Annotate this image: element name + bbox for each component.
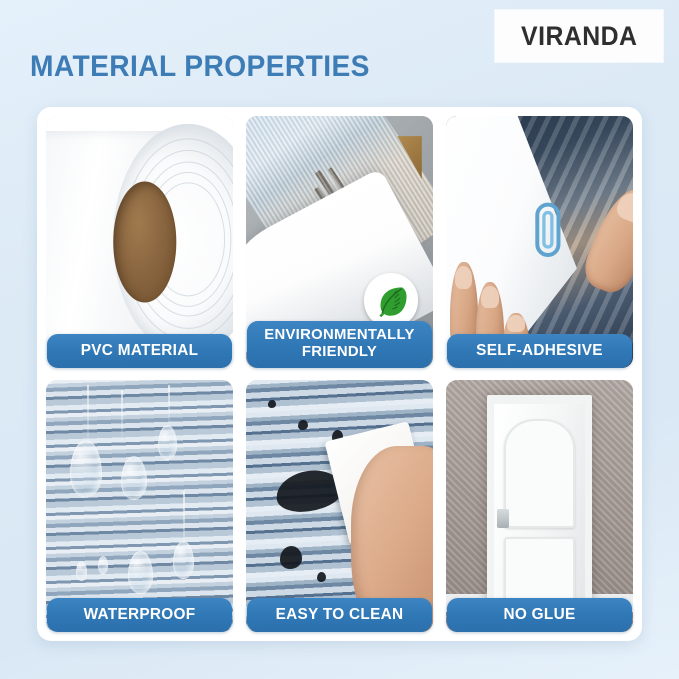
brand-logo-text: VIRANDA: [521, 21, 637, 52]
stain-medium: [280, 546, 302, 569]
pvc-material-label: PVC MATERIAL: [47, 334, 232, 368]
feature-card-waterproof: WATERPROOF: [46, 380, 233, 632]
water-drop: [158, 425, 177, 460]
door: [494, 404, 584, 615]
water-drop: [76, 561, 87, 581]
easy-to-clean-image: [246, 380, 433, 632]
environmentally-friendly-label: ENVIRONMENTALLY FRIENDLY: [247, 321, 432, 368]
stain-small: [268, 400, 275, 408]
water-drop: [98, 556, 107, 573]
waterproof-label: WATERPROOF: [47, 598, 232, 632]
eco-label-line-2: FRIENDLY: [302, 343, 377, 360]
brand-logo: VIRANDA: [495, 10, 663, 62]
feature-card-easy-to-clean: EASY TO CLEAN: [246, 380, 433, 632]
door-panel-bottom: [504, 537, 574, 604]
feature-card-pvc-material: PVC MATERIAL: [46, 116, 233, 368]
feature-card-self-adhesive: SELF-ADHESIVE: [446, 116, 633, 368]
door-panel-top: [504, 419, 574, 529]
door-frame: [487, 395, 592, 617]
self-adhesive-label: SELF-ADHESIVE: [447, 334, 632, 368]
door-handle: [497, 509, 509, 528]
paperclip-icon: [532, 192, 564, 268]
no-glue-label: NO GLUE: [447, 598, 632, 632]
feature-card-no-glue: NO GLUE: [446, 380, 633, 632]
pvc-cardboard-core: [113, 182, 177, 303]
stain-small: [317, 572, 326, 582]
infographic-page: VIRANDA MATERIAL PROPERTIES PVC MATERIAL: [0, 0, 679, 679]
water-drop: [173, 541, 194, 578]
water-drop: [128, 551, 152, 593]
wood-texture-backdrop: [46, 380, 233, 632]
feature-grid: PVC MATERIAL: [46, 116, 633, 632]
pvc-material-image: [46, 116, 233, 368]
waterproof-image: [46, 380, 233, 632]
easy-to-clean-label: EASY TO CLEAN: [247, 598, 432, 632]
leaf-icon: [364, 273, 418, 327]
eco-label-line-1: ENVIRONMENTALLY: [264, 326, 414, 343]
feature-card-environmentally-friendly: ENVIRONMENTALLY FRIENDLY: [246, 116, 433, 368]
self-adhesive-image: [446, 116, 633, 368]
no-glue-image: [446, 380, 633, 632]
page-title: MATERIAL PROPERTIES: [30, 50, 370, 84]
